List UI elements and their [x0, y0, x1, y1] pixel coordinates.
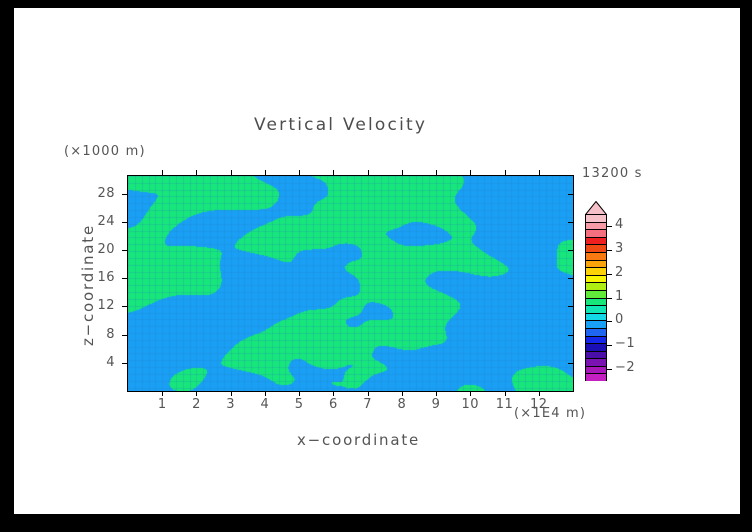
x-axis-tick-top: [265, 170, 266, 175]
colorbar-band: [586, 252, 606, 260]
x-axis-tick-label: 12: [519, 397, 559, 412]
x-axis-tick: [231, 391, 232, 396]
z-axis-tick: [122, 250, 127, 251]
x-axis-tick-top: [470, 170, 471, 175]
colorbar-tick-label: 1: [615, 289, 624, 304]
colorbar-tick: [607, 298, 612, 299]
x-axis-tick: [402, 391, 403, 396]
z-axis-tick-right: [568, 194, 573, 195]
colorbar-band: [586, 305, 606, 313]
colorbar-band: [586, 336, 606, 344]
colorbar-tick: [607, 226, 612, 227]
window-frame: Vertical Velocity (×1000 m) (×1E4 m) 132…: [0, 0, 752, 532]
x-axis-tick-top: [436, 170, 437, 175]
z-axis-tick-label: 4: [75, 355, 115, 370]
x-axis-tick-top: [368, 170, 369, 175]
colorbar-band: [586, 313, 606, 321]
x-axis-tick: [265, 391, 266, 396]
x-axis-tick-top: [299, 170, 300, 175]
figure-canvas: Vertical Velocity (×1000 m) (×1E4 m) 132…: [14, 8, 740, 514]
contour-plot-area: [127, 175, 574, 392]
colorbar-band: [586, 373, 606, 381]
colorbar-band: [586, 343, 606, 351]
colorbar-band: [586, 229, 606, 237]
vertical-velocity-field: [128, 176, 573, 391]
z-axis-tick-right: [568, 363, 573, 364]
colorbar-tick: [607, 369, 612, 370]
colorbar-band: [586, 290, 606, 298]
colorbar-band: [586, 282, 606, 290]
x-axis-tick: [436, 391, 437, 396]
colorbar-band: [586, 260, 606, 268]
x-axis-tick: [299, 391, 300, 396]
x-axis-tick-top: [505, 170, 506, 175]
x-axis-tick: [162, 391, 163, 396]
x-axis-tick: [539, 391, 540, 396]
colorbar-band: [586, 214, 606, 222]
z-axis-tick-right: [568, 278, 573, 279]
x-axis-tick: [368, 391, 369, 396]
z-axis-tick: [122, 278, 127, 279]
colorbar-tick-label: 0: [615, 312, 624, 327]
z-axis-tick-label: 24: [75, 214, 115, 229]
x-axis-tick: [333, 391, 334, 396]
z-axis-unit-label: (×1000 m): [64, 144, 146, 159]
x-axis-tick-top: [333, 170, 334, 175]
x-axis-tick-top: [539, 170, 540, 175]
colorbar-tick: [607, 250, 612, 251]
z-axis-tick-label: 20: [75, 242, 115, 257]
colorbar-tick-label: −1: [615, 336, 635, 351]
colorbar-band: [586, 222, 606, 230]
colorbar-band: [586, 298, 606, 306]
colorbar-arrow-cap-icon: [585, 200, 607, 214]
colorbar-tick: [607, 321, 612, 322]
colorbar-tick: [607, 345, 612, 346]
colorbar-tick: [607, 274, 612, 275]
z-axis-tick: [122, 363, 127, 364]
page-title: Vertical Velocity: [254, 115, 427, 135]
colorbar-band: [586, 328, 606, 336]
colorbar-band: [586, 267, 606, 275]
z-axis-tick: [122, 335, 127, 336]
z-axis-tick-label: 12: [75, 298, 115, 313]
colorbar-band: [586, 351, 606, 359]
colorbar-band: [586, 237, 606, 245]
z-axis-tick: [122, 194, 127, 195]
z-axis-tick-right: [568, 250, 573, 251]
x-axis-tick: [196, 391, 197, 396]
x-axis-tick: [505, 391, 506, 396]
colorbar: 43210−1−2: [585, 200, 607, 381]
colorbar-tick-label: −2: [615, 360, 635, 375]
z-axis-tick-label: 28: [75, 186, 115, 201]
colorbar-band: [586, 358, 606, 366]
z-axis-tick: [122, 222, 127, 223]
timestamp-label: 13200 s: [582, 166, 643, 181]
z-axis-tick-label: 8: [75, 327, 115, 342]
x-axis-tick-top: [162, 170, 163, 175]
colorbar-tick-label: 3: [615, 241, 624, 256]
z-axis-tick: [122, 306, 127, 307]
z-axis-tick-right: [568, 306, 573, 307]
colorbar-tick-label: 2: [615, 265, 624, 280]
x-axis-title: x−coordinate: [297, 431, 420, 449]
colorbar-tick-label: 4: [615, 217, 624, 232]
colorbar-bands: [585, 214, 607, 381]
x-axis-tick-top: [196, 170, 197, 175]
z-axis-tick-right: [568, 335, 573, 336]
colorbar-band: [586, 275, 606, 283]
colorbar-band: [586, 320, 606, 328]
x-axis-tick: [470, 391, 471, 396]
colorbar-band: [586, 366, 606, 374]
z-axis-tick-label: 16: [75, 270, 115, 285]
x-axis-tick-top: [231, 170, 232, 175]
x-axis-tick-top: [402, 170, 403, 175]
z-axis-tick-right: [568, 222, 573, 223]
colorbar-band: [586, 244, 606, 252]
